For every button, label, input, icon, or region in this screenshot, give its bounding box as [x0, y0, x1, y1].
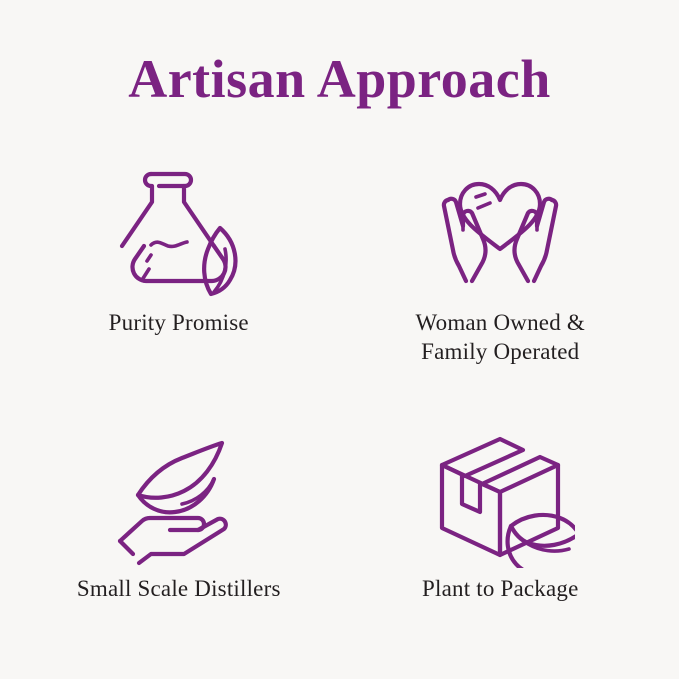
- feature-label: Woman Owned & Family Operated: [416, 308, 585, 367]
- flask-leaf-icon: [104, 152, 254, 302]
- feature-label: Plant to Package: [422, 574, 579, 603]
- hands-heart-icon: [425, 152, 575, 302]
- box-leaf-icon: [425, 418, 575, 568]
- artisan-approach-infographic: Artisan Approach: [0, 0, 679, 679]
- feature-item-woman-owned: Woman Owned & Family Operated: [340, 130, 662, 390]
- feature-item-small-scale-distillers: Small Scale Distillers: [18, 390, 340, 650]
- hand-leaf-icon: [104, 418, 254, 568]
- feature-label: Purity Promise: [109, 308, 249, 337]
- feature-item-purity-promise: Purity Promise: [18, 130, 340, 390]
- feature-label: Small Scale Distillers: [77, 574, 281, 603]
- feature-item-plant-to-package: Plant to Package: [340, 390, 662, 650]
- page-title: Artisan Approach: [0, 0, 679, 106]
- feature-grid: Purity Promise: [0, 106, 679, 679]
